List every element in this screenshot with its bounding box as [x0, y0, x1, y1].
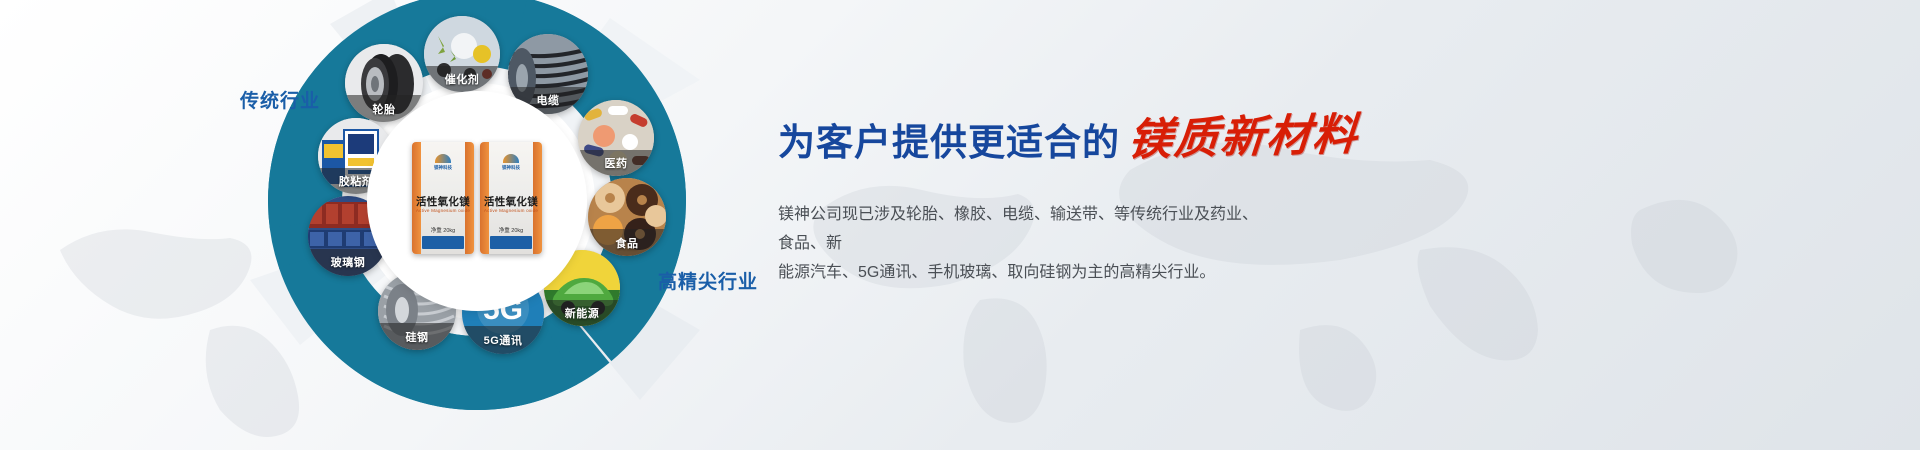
bag-net-right: 净重 20kg	[480, 226, 542, 234]
sun-logo-icon	[503, 154, 519, 163]
bag-footer-band-right	[490, 236, 532, 249]
bag-logo-left: 镁神科技	[412, 154, 474, 171]
bag-subtitle-right: Active Magnesium oxide	[480, 208, 542, 213]
body-copy-line-1: 镁神公司现已涉及轮胎、橡胶、电缆、输送带、等传统行业及药业、食品、新	[778, 200, 1270, 258]
body-copy: 镁神公司现已涉及轮胎、橡胶、电缆、输送带、等传统行业及药业、食品、新 能源汽车、…	[778, 200, 1270, 287]
product-bag-left[interactable]: 镁神科技 活性氧化镁 Active Magnesium oxide 净重 20k…	[412, 142, 474, 254]
center-product-disc: 镁神科技 活性氧化镁 Active Magnesium oxide 净重 20k…	[372, 96, 582, 306]
marketing-copy-block: 为客户提供更适合的 镁质新材料 镁神公司现已涉及轮胎、橡胶、电缆、输送带、等传统…	[778, 104, 1478, 287]
bubble-tire[interactable]: 轮胎	[345, 44, 423, 122]
bag-logo-right: 镁神科技	[480, 154, 542, 171]
bubble-label-frp: 玻璃钢	[308, 249, 388, 276]
bubble-label-catalyst: 催化剂	[424, 66, 500, 92]
ring-label-traditional: 传统行业	[240, 86, 320, 113]
bubble-label-silicon-steel: 硅钢	[378, 323, 456, 350]
sun-logo-icon	[435, 154, 451, 163]
bag-subtitle-left: Active Magnesium oxide	[412, 208, 474, 213]
headline-accent: 镁质新材料	[1126, 98, 1362, 168]
bubble-food[interactable]: 食品	[588, 178, 666, 256]
bubble-label-new-energy: 新能源	[544, 300, 620, 326]
body-copy-line-2: 能源汽车、5G通讯、手机玻璃、取向硅钢为主的高精尖行业。	[778, 258, 1270, 287]
product-bag-right[interactable]: 镁神科技 活性氧化镁 Active Magnesium oxide 净重 20k…	[480, 142, 542, 254]
bubble-cable[interactable]: 电缆	[508, 34, 588, 114]
headline-main: 为客户提供更适合的	[778, 112, 1120, 166]
bubble-label-medicine: 医药	[578, 150, 654, 176]
bag-title-left: 活性氧化镁	[412, 194, 474, 209]
bubble-medicine[interactable]: 医药	[578, 100, 654, 176]
bubble-label-5g: 5G通讯	[462, 326, 544, 354]
ring-label-advanced: 高精尖行业	[658, 267, 758, 294]
bubble-catalyst[interactable]: 催化剂	[424, 16, 500, 92]
bag-title-right: 活性氧化镁	[480, 194, 542, 209]
headline: 为客户提供更适合的 镁质新材料	[778, 104, 1478, 168]
bag-net-left: 净重 20kg	[412, 226, 474, 234]
bag-footer-band-left	[422, 236, 464, 249]
